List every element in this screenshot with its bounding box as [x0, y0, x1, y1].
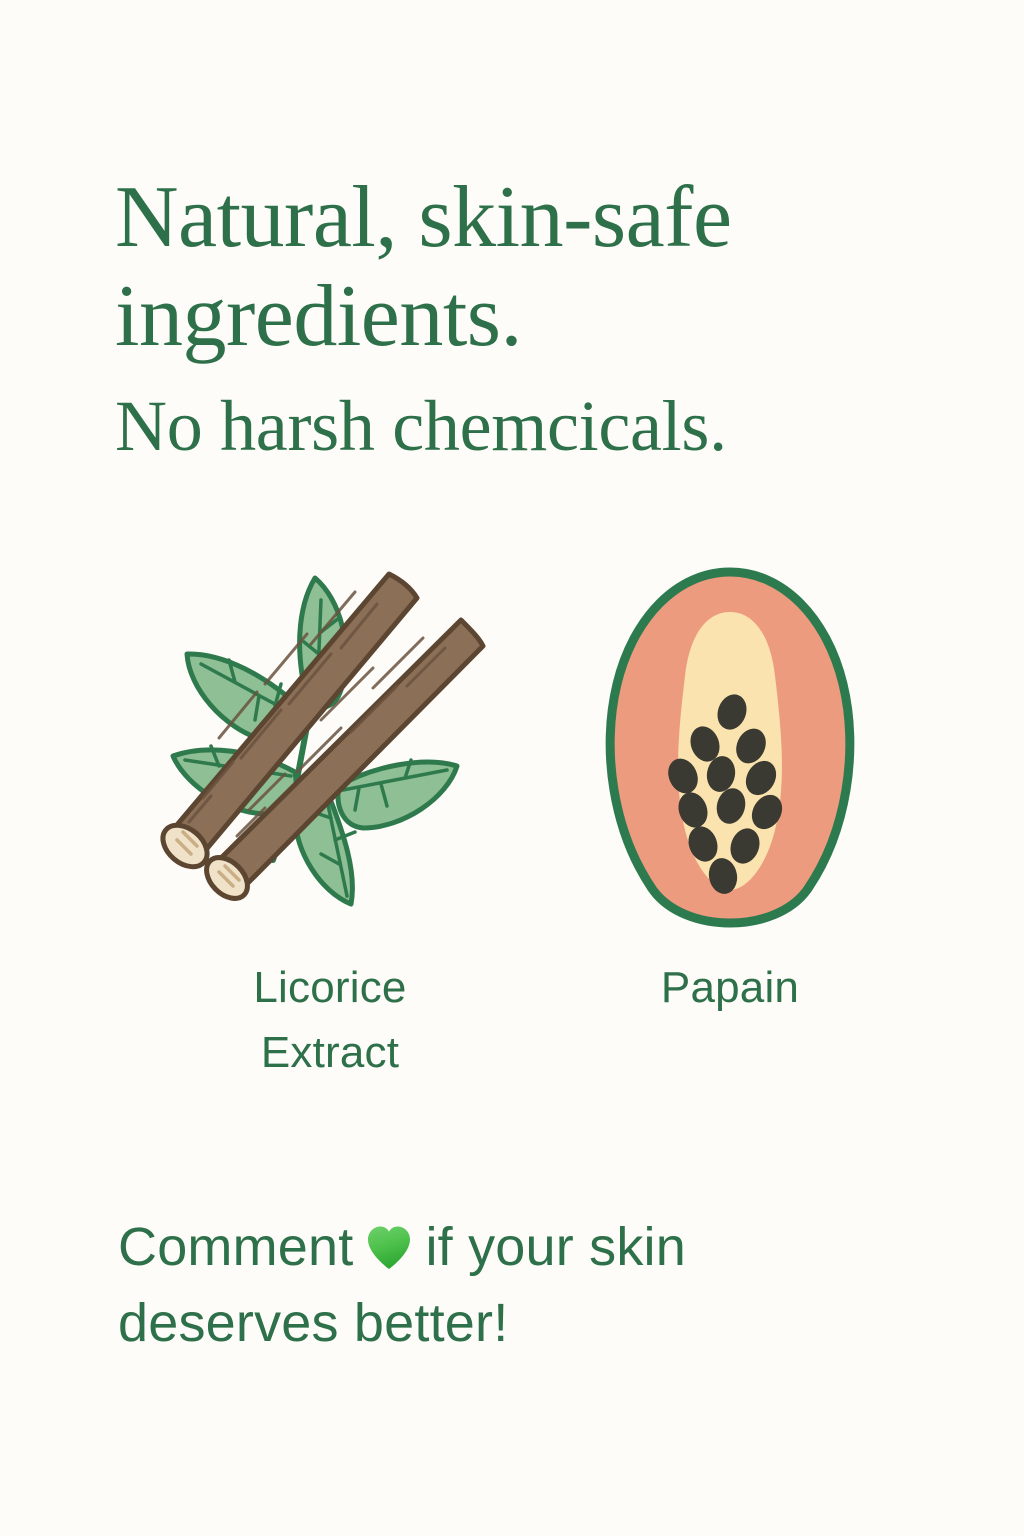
ingredient-label-papain: Papain: [661, 955, 799, 1020]
green-heart-icon: [365, 1218, 413, 1288]
headline-block: Natural, skin-safe ingredients. No harsh…: [115, 168, 915, 468]
cta-text-before: Comment: [118, 1217, 353, 1277]
headline-subline: No harsh chemcicals.: [115, 385, 915, 468]
ingredients-row: Licorice Extract: [0, 555, 1024, 1085]
papaya-half-icon: [595, 560, 865, 950]
ingredient-label-line-2: Extract: [261, 1028, 399, 1077]
poster-canvas: Natural, skin-safe ingredients. No harsh…: [0, 0, 1024, 1536]
ingredient-label-line-1: Papain: [661, 963, 799, 1012]
ingredient-label-line-1: Licorice: [253, 963, 406, 1012]
page-title: Natural, skin-safe ingredients.: [115, 168, 915, 367]
licorice-sticks-icon: [145, 560, 515, 950]
ingredient-label-licorice: Licorice Extract: [253, 955, 406, 1085]
cta-text: Commentif your skin deserves better!: [118, 1212, 878, 1358]
papaya-art-wrap: [595, 555, 865, 955]
headline-line-2: ingredients.: [115, 268, 522, 365]
headline-line-1: Natural, skin-safe: [115, 169, 732, 266]
ingredient-card-licorice: Licorice Extract: [120, 555, 540, 1085]
licorice-art-wrap: [145, 555, 515, 955]
ingredient-card-papain: Papain: [560, 555, 900, 1020]
